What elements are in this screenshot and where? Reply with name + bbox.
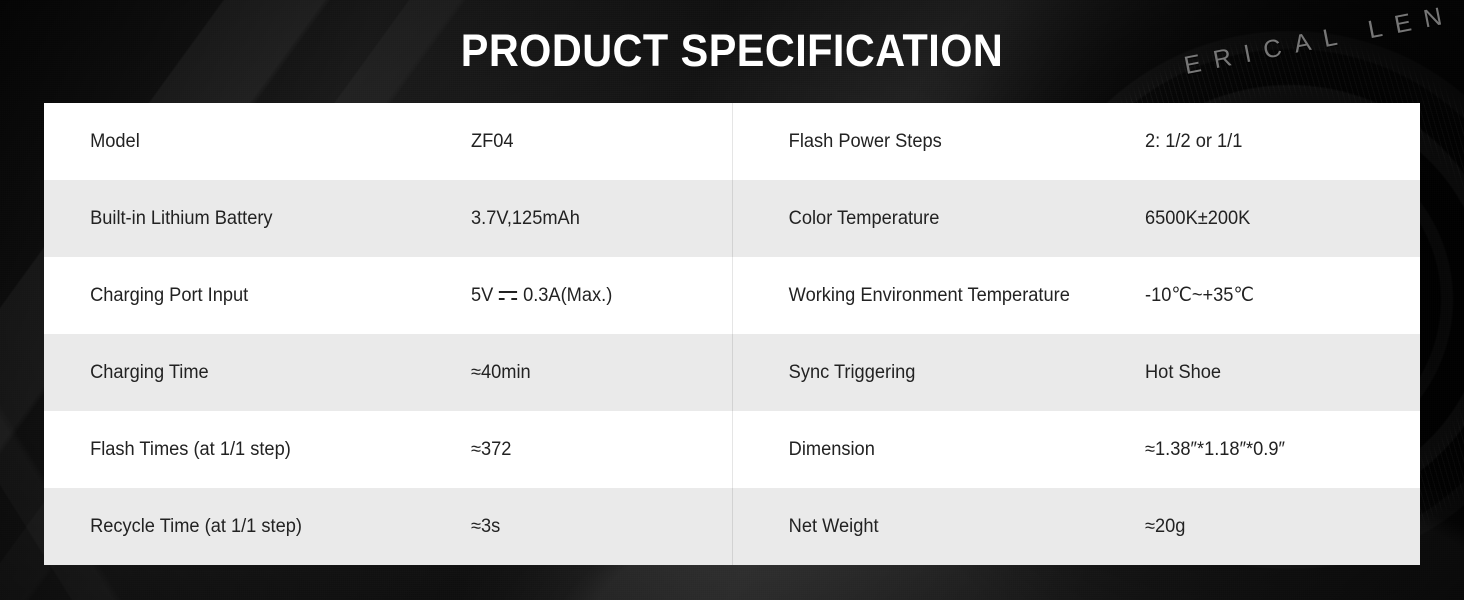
spec-value: ZF04 (471, 127, 722, 156)
spec-cell-dimension: Dimension ≈1.38″*1.18″*0.9″ (732, 411, 1420, 488)
spec-value-prefix: 5V (471, 285, 493, 306)
spec-label: Dimension (733, 435, 1129, 464)
table-row: Charging Time ≈40min Sync Triggering Hot… (44, 334, 1420, 411)
spec-cell-flash-times: Flash Times (at 1/1 step) ≈372 (44, 411, 732, 488)
spec-cell-net-weight: Net Weight ≈20g (732, 488, 1420, 565)
spec-value: ≈20g (1145, 512, 1409, 541)
product-specification-page: ERICAL LEN PRODUCT SPECIFICATION Model Z… (0, 0, 1464, 600)
spec-cell-model: Model ZF04 (44, 103, 732, 180)
spec-label: Flash Times (at 1/1 step) (44, 435, 453, 464)
page-title: PRODUCT SPECIFICATION (59, 28, 1406, 73)
spec-label: Model (44, 127, 453, 156)
spec-cell-working-environment-temperature: Working Environment Temperature -10℃~+35… (732, 257, 1420, 334)
spec-label: Flash Power Steps (733, 127, 1129, 156)
spec-value: 5V0.3A(Max.) (471, 281, 722, 310)
table-row: Model ZF04 Flash Power Steps 2: 1/2 or 1… (44, 103, 1420, 180)
spec-cell-recycle-time: Recycle Time (at 1/1 step) ≈3s (44, 488, 732, 565)
spec-value: 6500K±200K (1145, 204, 1409, 233)
spec-cell-charging-port-input: Charging Port Input 5V0.3A(Max.) (44, 257, 732, 334)
spec-label: Color Temperature (733, 204, 1129, 233)
spec-label: Working Environment Temperature (733, 281, 1129, 310)
spec-cell-sync-triggering: Sync Triggering Hot Shoe (732, 334, 1420, 411)
spec-value: -10℃~+35℃ (1145, 281, 1409, 310)
table-row: Charging Port Input 5V0.3A(Max.) Working… (44, 257, 1420, 334)
spec-label: Recycle Time (at 1/1 step) (44, 512, 453, 541)
table-row: Recycle Time (at 1/1 step) ≈3s Net Weigh… (44, 488, 1420, 565)
dc-power-icon (499, 291, 517, 300)
spec-cell-built-in-lithium-battery: Built-in Lithium Battery 3.7V,125mAh (44, 180, 732, 257)
spec-label: Charging Time (44, 358, 453, 387)
spec-value: ≈1.38″*1.18″*0.9″ (1145, 435, 1409, 464)
spec-cell-color-temperature: Color Temperature 6500K±200K (732, 180, 1420, 257)
table-row: Built-in Lithium Battery 3.7V,125mAh Col… (44, 180, 1420, 257)
spec-value: 3.7V,125mAh (471, 204, 722, 233)
spec-label: Sync Triggering (733, 358, 1129, 387)
spec-value: 2: 1/2 or 1/1 (1145, 127, 1409, 156)
spec-label: Charging Port Input (44, 281, 453, 310)
spec-value: Hot Shoe (1145, 358, 1409, 387)
spec-label: Net Weight (733, 512, 1129, 541)
spec-value: ≈3s (471, 512, 722, 541)
spec-cell-flash-power-steps: Flash Power Steps 2: 1/2 or 1/1 (732, 103, 1420, 180)
specification-table: Model ZF04 Flash Power Steps 2: 1/2 or 1… (44, 103, 1420, 565)
spec-label: Built-in Lithium Battery (44, 204, 453, 233)
spec-value: ≈372 (471, 435, 722, 464)
spec-cell-charging-time: Charging Time ≈40min (44, 334, 732, 411)
table-row: Flash Times (at 1/1 step) ≈372 Dimension… (44, 411, 1420, 488)
spec-value-suffix: 0.3A(Max.) (523, 285, 612, 306)
spec-value: ≈40min (471, 358, 722, 387)
